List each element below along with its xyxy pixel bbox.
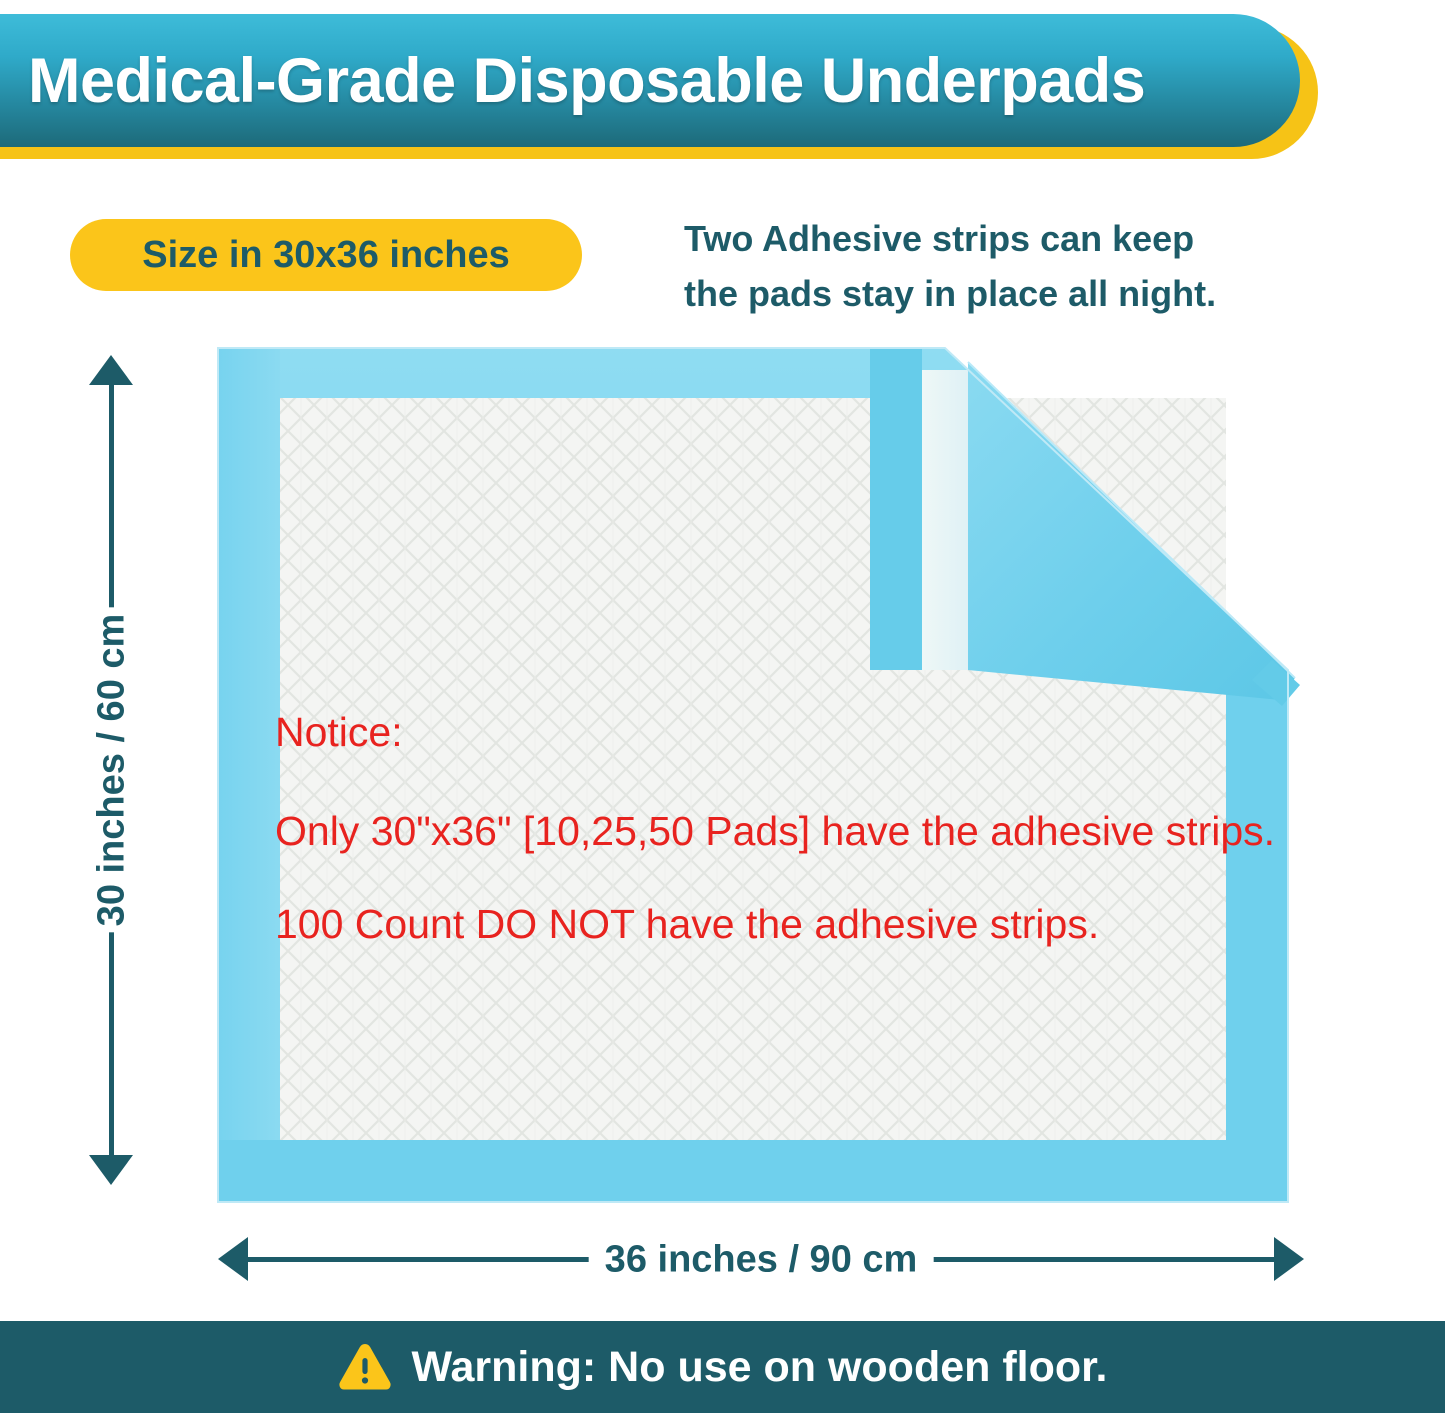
flap-edge-band (870, 348, 922, 670)
arrow-right-icon (1274, 1237, 1304, 1281)
page-title: Medical-Grade Disposable Underpads (28, 45, 1145, 117)
notice-heading: Notice: (275, 712, 1395, 753)
horizontal-dimension-label: 36 inches / 90 cm (589, 1239, 934, 1282)
adhesive-note-line-2: the pads stay in place all night. (684, 267, 1344, 322)
horizontal-dimension-arrow: 36 inches / 90 cm (218, 1232, 1304, 1288)
header-banner: Medical-Grade Disposable Underpads (0, 14, 1300, 147)
notice-line-2: 100 Count DO NOT have the adhesive strip… (275, 904, 1395, 945)
notice-text-block: Notice: Only 30"x36" [10,25,50 Pads] hav… (275, 712, 1395, 945)
pad-border-bottom (218, 1140, 1288, 1202)
pad-border-left (218, 348, 280, 1202)
arrow-down-icon (89, 1155, 133, 1185)
size-badge-label: Size in 30x36 inches (142, 234, 510, 277)
warning-triangle-icon (338, 1342, 392, 1392)
vertical-dimension-label: 30 inches / 60 cm (91, 608, 134, 933)
notice-line-1: Only 30"x36" [10,25,50 Pads] have the ad… (275, 811, 1395, 852)
header-banner-wrap: Medical-Grade Disposable Underpads (0, 14, 1318, 159)
warning-footer: Warning: No use on wooden floor. (0, 1321, 1445, 1413)
size-badge: Size in 30x36 inches (70, 219, 582, 291)
adhesive-strips-note: Two Adhesive strips can keep the pads st… (684, 212, 1344, 321)
vertical-dimension-arrow: 30 inches / 60 cm (84, 355, 140, 1185)
adhesive-strip (922, 370, 968, 670)
adhesive-note-line-1: Two Adhesive strips can keep (684, 212, 1344, 267)
warning-label: Warning: No use on wooden floor. (412, 1343, 1108, 1392)
